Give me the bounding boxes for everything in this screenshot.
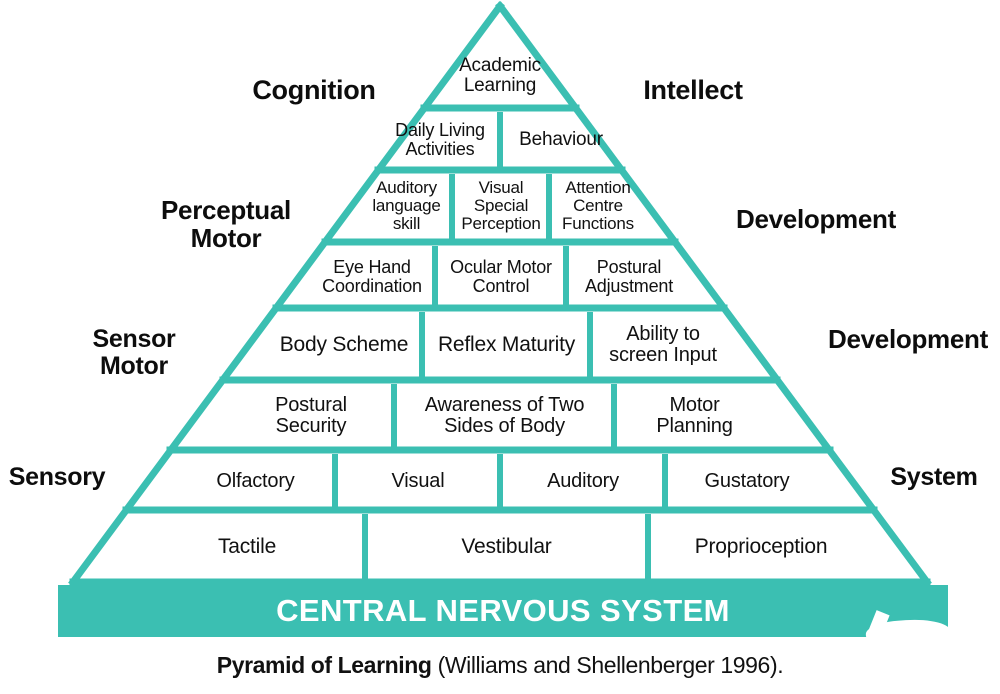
side-label-development-lower: Development [790,326,1000,354]
cell-line: Postural [275,394,347,416]
cell-reflex-maturity: Reflex Maturity [425,314,588,376]
cell-vestibular: Vestibular [368,516,645,578]
side-label-text: Development [828,324,988,354]
cell-line: Control [473,276,530,296]
side-label-development-upper: Development [700,206,932,234]
cell-proprioception: Proprioception [651,516,871,578]
side-label-text: System [890,463,977,491]
pyramid-of-learning-diagram: Academic Learning Daily Living Activitie… [0,0,1000,694]
side-label-text: Perceptual [161,195,291,225]
cell-line: skill [393,214,420,233]
side-label-text: Intellect [643,75,742,105]
banner-text: CENTRAL NERVOUS SYSTEM [276,593,730,629]
cell-daily-living-activities: Daily Living Activities [383,112,497,168]
cell-awareness-of-two-sides-of-body: Awareness of Two Sides of Body [397,386,612,446]
side-label-text: Motor [100,352,168,380]
cell-line: Sides of Body [444,415,565,437]
cell-line: Behaviour [519,130,603,150]
cell-postural-adjustment: Postural Adjustment [569,248,689,306]
side-label-text: Motor [191,223,262,253]
cell-eye-hand-coordination: Eye Hand Coordination [312,248,432,306]
side-label-sensor-motor: Sensor Motor [48,326,220,379]
cell-ocular-motor-control: Ocular Motor Control [438,248,564,306]
cell-academic-learning: Academic Learning [424,46,576,106]
cell-line: Centre [573,196,623,215]
cell-line: language [372,196,440,215]
cell-line: Tactile [218,536,276,558]
side-label-sensory: Sensory [0,464,116,491]
cell-line: Functions [562,214,634,233]
side-label-system: System [872,464,996,491]
cell-line: Activities [405,139,474,159]
side-label-cognition: Cognition [218,76,410,105]
side-label-intellect: Intellect [600,76,786,105]
cell-line: Adjustment [585,276,673,296]
cell-line: Planning [656,415,732,437]
cell-line: Ocular Motor [450,257,552,277]
cell-tactile: Tactile [132,516,362,578]
cell-line: Eye Hand [333,257,410,277]
cell-attention-centre-functions: Attention Centre Functions [552,174,644,238]
cell-line: Awareness of Two [425,394,585,416]
cell-line: Special [474,196,528,215]
cell-line: Proprioception [695,536,828,558]
cell-visual: Visual [338,456,498,506]
cell-olfactory: Olfactory [178,456,333,506]
caption-reference: (Williams and Shellenberger 1996). [438,652,784,678]
cell-line: Visual [392,471,445,492]
cell-line: Attention [565,178,630,197]
cell-line: Auditory [547,471,619,492]
cell-line: Reflex Maturity [438,334,575,356]
side-label-text: Sensory [9,463,106,491]
cell-body-scheme: Body Scheme [268,314,420,376]
cell-line: Learning [464,75,536,96]
cell-line: Security [276,415,347,437]
side-label-perceptual-motor: Perceptual Motor [128,197,324,252]
cell-ability-to-screen-input: Ability to screen Input [593,314,733,376]
cell-line: Daily Living [395,120,485,140]
central-nervous-system-banner: CENTRAL NERVOUS SYSTEM [58,585,948,637]
cell-line: Perception [461,214,540,233]
cell-postural-security: Postural Security [230,386,392,446]
cell-line: Gustatory [705,471,790,492]
cell-line: Coordination [322,276,422,296]
caption-title: Pyramid of Learning [217,652,432,678]
cell-line: screen Input [609,344,717,366]
side-label-text: Cognition [252,75,375,105]
cell-gustatory: Gustatory [668,456,826,506]
cell-line: Olfactory [216,471,294,492]
cell-line: Ability to [626,323,700,345]
cell-auditory: Auditory [503,456,663,506]
cell-line: Body Scheme [280,334,409,356]
cell-auditory-language-skill: Auditory language skill [363,174,450,238]
figure-caption: Pyramid of Learning (Williams and Shelle… [0,652,1000,679]
cell-line: Motor [669,394,719,416]
cell-visual-special-perception: Visual Special Perception [455,174,547,238]
cell-line: Postural [597,257,661,277]
cell-line: Vestibular [461,536,551,558]
side-label-text: Sensor [93,325,176,353]
cell-motor-planning: Motor Planning [617,386,772,446]
cell-line: Visual [479,178,524,197]
side-label-text: Development [736,204,896,234]
cell-line: Auditory [376,178,437,197]
cell-line: Academic [459,55,541,76]
cell-behaviour: Behaviour [503,112,619,168]
